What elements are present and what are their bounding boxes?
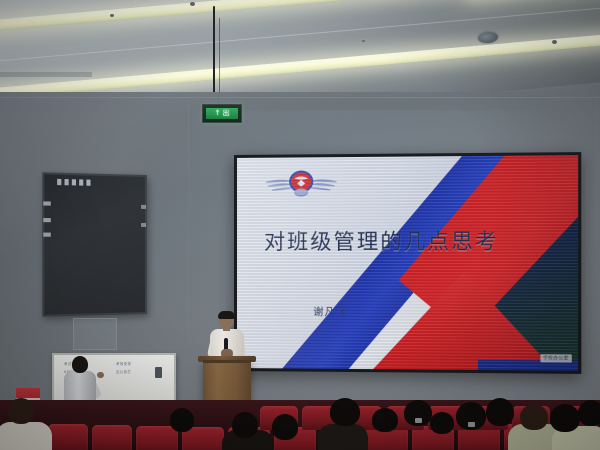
projection-screen[interactable]: 对班级管理的几点思考 谢凡飞 学校办公室	[234, 152, 581, 374]
slide-display: 对班级管理的几点思考 谢凡飞 学校办公室	[237, 155, 578, 371]
wall-seam	[596, 100, 597, 360]
exit-arrow-icon: ↑	[215, 110, 221, 117]
notice-board-clip	[141, 205, 146, 209]
exit-character: 出	[222, 110, 229, 117]
hair-clip	[415, 418, 422, 423]
writer-hand	[97, 372, 104, 378]
ceiling-recess	[0, 72, 92, 77]
hanging-cable	[213, 6, 215, 106]
ceiling-fixture	[110, 14, 114, 17]
notice-board-clip	[141, 223, 146, 227]
slide-title: 对班级管理的几点思考	[264, 225, 499, 256]
notice-board-clip	[43, 201, 50, 205]
audience-head	[232, 412, 258, 438]
audience-head	[170, 408, 194, 432]
audience-head	[520, 404, 548, 430]
audience-shoulders	[318, 424, 368, 450]
hair-clip	[468, 422, 475, 427]
audience-head	[578, 400, 600, 426]
audience-head	[550, 404, 580, 432]
auditorium-seat	[92, 425, 132, 450]
hanging-cable	[219, 18, 220, 98]
writer-head	[72, 356, 88, 373]
ceiling-fixture	[190, 2, 195, 6]
audience-head	[430, 412, 454, 434]
wall-access-panel	[73, 318, 117, 350]
speaker-hair	[218, 311, 235, 319]
auditorium-photo: ↑ 出	[0, 0, 600, 450]
ceiling-fixture	[362, 40, 365, 42]
audience-head	[272, 414, 298, 440]
audience-head	[8, 398, 34, 424]
audience-head	[330, 398, 360, 426]
audience-shoulders	[0, 422, 52, 450]
wall-notice-board	[42, 172, 147, 316]
exit-sign-face: ↑ 出	[206, 108, 238, 119]
whiteboard-note: 考场安排	[116, 362, 131, 367]
wall-seam	[188, 100, 189, 350]
ceiling-fixture	[552, 40, 557, 44]
audience-head	[486, 398, 514, 426]
wall-seam	[0, 97, 600, 98]
whiteboard-note: 见公告栏	[116, 370, 131, 375]
notice-board-header-strip	[57, 179, 90, 186]
winged-school-emblem-icon	[264, 168, 339, 199]
slide-author: 谢凡飞	[313, 303, 346, 318]
emergency-exit-sign: ↑ 出	[202, 104, 242, 123]
audience-head	[372, 408, 398, 432]
auditorium-seat	[136, 426, 178, 450]
whiteboard-eraser[interactable]	[155, 367, 162, 378]
slide-watermark: 学校办公室	[540, 354, 572, 362]
auditorium-seat	[48, 424, 88, 450]
notice-board-clip	[43, 218, 50, 222]
notice-board-clip	[43, 233, 50, 237]
